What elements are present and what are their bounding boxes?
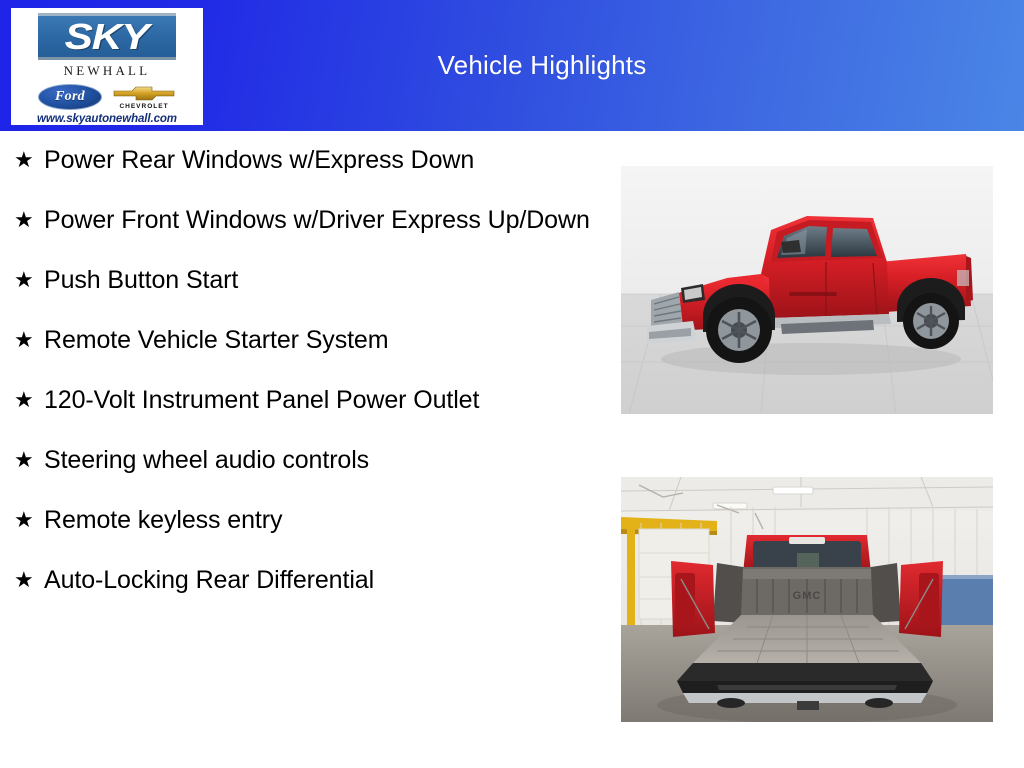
vehicle-highlights-list: ★ Power Rear Windows w/Express Down ★ Po… [10, 142, 600, 622]
chevrolet-logo-text: CHEVROLET [119, 103, 168, 110]
list-item: ★ Remote Vehicle Starter System [10, 322, 600, 358]
slide: Vehicle Highlights SKY NEWHALL Ford [0, 0, 1024, 768]
dealer-location-text: NEWHALL [64, 63, 151, 79]
star-icon: ★ [10, 382, 44, 418]
list-item-label: Push Button Start [44, 262, 600, 298]
star-icon: ★ [10, 442, 44, 478]
list-item: ★ 120-Volt Instrument Panel Power Outlet [10, 382, 600, 418]
list-item-label: Power Front Windows w/Driver Express Up/… [44, 202, 600, 238]
list-item: ★ Power Rear Windows w/Express Down [10, 142, 600, 178]
star-icon: ★ [10, 142, 44, 178]
ford-logo-icon: Ford [38, 84, 102, 110]
chevrolet-bowtie-icon [112, 85, 176, 102]
list-item-label: Steering wheel audio controls [44, 442, 600, 478]
star-icon: ★ [10, 562, 44, 598]
sky-brand-text: SKY [65, 19, 149, 55]
list-item-label: Power Rear Windows w/Express Down [44, 142, 600, 178]
bed-photo-graphic: GMC [621, 477, 993, 722]
franchise-logos: Ford CHEVROLET [22, 83, 192, 111]
dealer-logo[interactable]: SKY NEWHALL Ford CHEVRO [11, 8, 203, 125]
chevrolet-logo-group: CHEVROLET [112, 85, 176, 110]
list-item: ★ Remote keyless entry [10, 502, 600, 538]
list-item-label: Auto-Locking Rear Differential [44, 562, 600, 598]
star-icon: ★ [10, 502, 44, 538]
star-icon: ★ [10, 202, 44, 238]
svg-text:GMC: GMC [793, 590, 822, 602]
list-item-label: 120-Volt Instrument Panel Power Outlet [44, 382, 600, 418]
vehicle-exterior-photo[interactable] [621, 166, 993, 414]
list-item-label: Remote Vehicle Starter System [44, 322, 600, 358]
list-item: ★ Power Front Windows w/Driver Express U… [10, 202, 600, 238]
star-icon: ★ [10, 322, 44, 358]
star-icon: ★ [10, 262, 44, 298]
list-item: ★ Steering wheel audio controls [10, 442, 600, 478]
list-item-label: Remote keyless entry [44, 502, 600, 538]
truck-bed-photo[interactable]: GMC [621, 477, 993, 722]
ford-logo-text: Ford [55, 89, 85, 105]
exterior-photo-graphic [621, 166, 993, 414]
dealer-website-text: www.skyautonewhall.com [37, 113, 177, 125]
sky-badge: SKY [38, 13, 176, 60]
list-item: ★ Push Button Start [10, 262, 600, 298]
list-item: ★ Auto-Locking Rear Differential [10, 562, 600, 598]
